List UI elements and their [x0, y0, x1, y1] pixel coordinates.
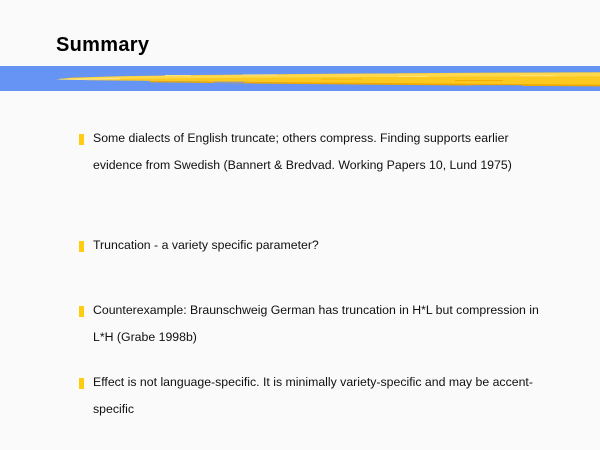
list-item-label: Effect is not language-specific. It is m… [93, 369, 545, 423]
bullet-marker-icon [79, 378, 84, 389]
bullet-marker-icon [79, 241, 84, 252]
list-item-label: Some dialects of English truncate; other… [93, 125, 545, 179]
list-item-label: Truncation - a variety specific paramete… [93, 232, 545, 259]
presentation-slide: Summary Some dialects of English t [0, 0, 600, 450]
bullet-marker-icon [79, 306, 84, 317]
bullet-marker-icon [79, 134, 84, 145]
list-item-label: Counterexample: Braunschweig German has … [93, 297, 545, 351]
slide-body: Some dialects of English truncate; other… [0, 0, 600, 450]
